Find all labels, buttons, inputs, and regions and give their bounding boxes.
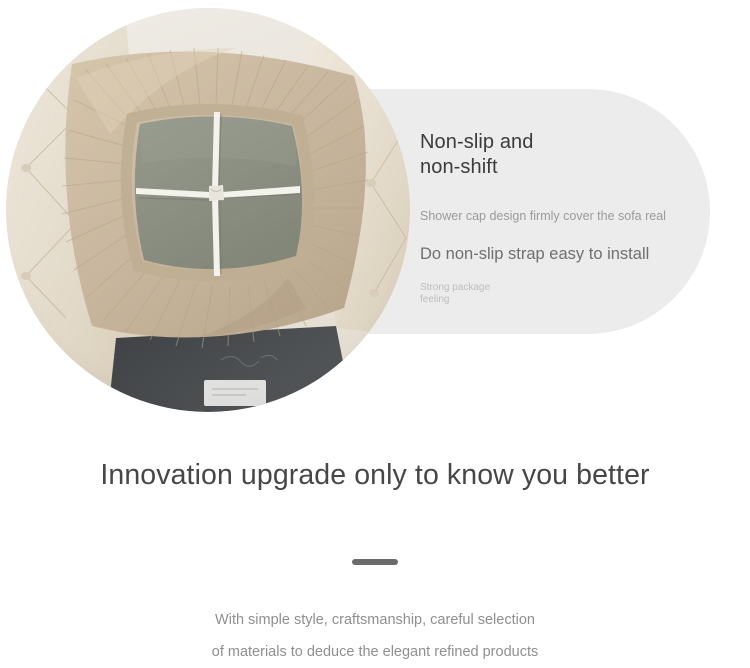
tagline-line-2: of materials to deduce the elegant refin… [212,644,538,660]
bottom-section: Innovation upgrade only to know you bett… [0,430,750,634]
feature-headline: Non-slip and non-shift [420,130,720,180]
feature-tiny-line: Strong package feeling [420,264,720,305]
product-feature-page: Non-slip and non-shift Shower cap design… [0,0,750,634]
feature-block: Non-slip and non-shift Shower cap design… [0,0,750,430]
bottom-tagline: With simple style, craftsmanship, carefu… [0,565,750,668]
feature-text-group: Non-slip and non-shift Shower cap design… [420,130,720,305]
product-photo-circle [6,8,410,412]
feature-sub-line: Shower cap design firmly cover the sofa … [420,180,720,224]
product-photo-illustration [6,8,410,412]
tagline-line-1: With simple style, craftsmanship, carefu… [215,612,535,628]
feature-mid-line: Do non-slip strap easy to install [420,224,720,264]
bottom-title: Innovation upgrade only to know you bett… [0,430,750,493]
